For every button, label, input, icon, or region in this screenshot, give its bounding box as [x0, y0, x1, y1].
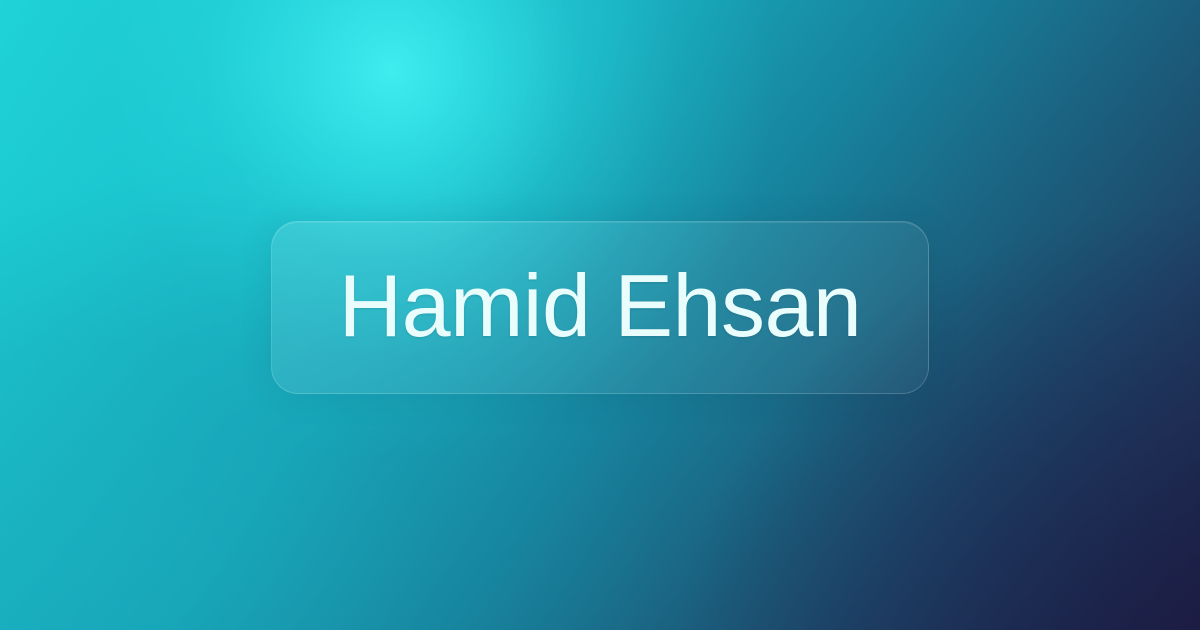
- social-preview-card: Hamid Ehsan: [0, 0, 1200, 630]
- name-title: Hamid Ehsan: [339, 262, 862, 350]
- name-plate: Hamid Ehsan: [271, 221, 929, 394]
- center-stage: Hamid Ehsan: [0, 0, 1200, 630]
